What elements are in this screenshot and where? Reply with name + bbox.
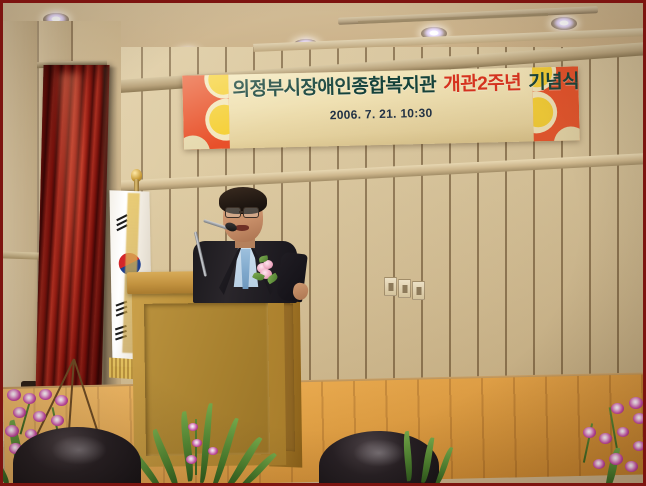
banner-headline: 의정부시장애인종합복지관개관2주년기념식 <box>232 74 528 100</box>
plant-sprigs-right <box>401 427 461 486</box>
eyeglasses-icon <box>243 207 259 218</box>
audience-head-left-highlight <box>51 435 107 465</box>
banner-title-org: 의정부시장애인종합복지관 <box>232 75 436 101</box>
banner-title-anniversary: 개관2주년 <box>443 73 521 96</box>
eyeglasses-bridge <box>239 211 244 213</box>
wall-light-switch-icon[interactable] <box>412 281 425 300</box>
corsage-flower-icon <box>255 259 277 285</box>
banner-date-text: 2006. 7. 21. 10:30 <box>233 104 529 125</box>
recessed-downlight-icon <box>551 17 577 30</box>
curtain-highlight <box>59 73 81 373</box>
banner-title-ceremony: 기념식 <box>528 71 579 93</box>
event-banner: 의정부시장애인종합복지관개관2주년기념식 2006. 7. 21. 10:30 <box>182 66 580 149</box>
flame-emblem-left-icon <box>182 75 230 150</box>
photograph-frame: 의정부시장애인종합복지관개관2주년기념식 2006. 7. 21. 10:30 <box>0 0 646 486</box>
wall-power-outlet-icon[interactable] <box>384 277 397 296</box>
speaker-person <box>181 187 311 297</box>
orchid-arrangement-right <box>573 397 646 486</box>
potted-plant-center <box>148 401 278 486</box>
speaker-mouth <box>235 225 249 231</box>
wall-light-switch-icon[interactable] <box>398 279 411 298</box>
audience-head-right-highlight <box>353 439 405 467</box>
